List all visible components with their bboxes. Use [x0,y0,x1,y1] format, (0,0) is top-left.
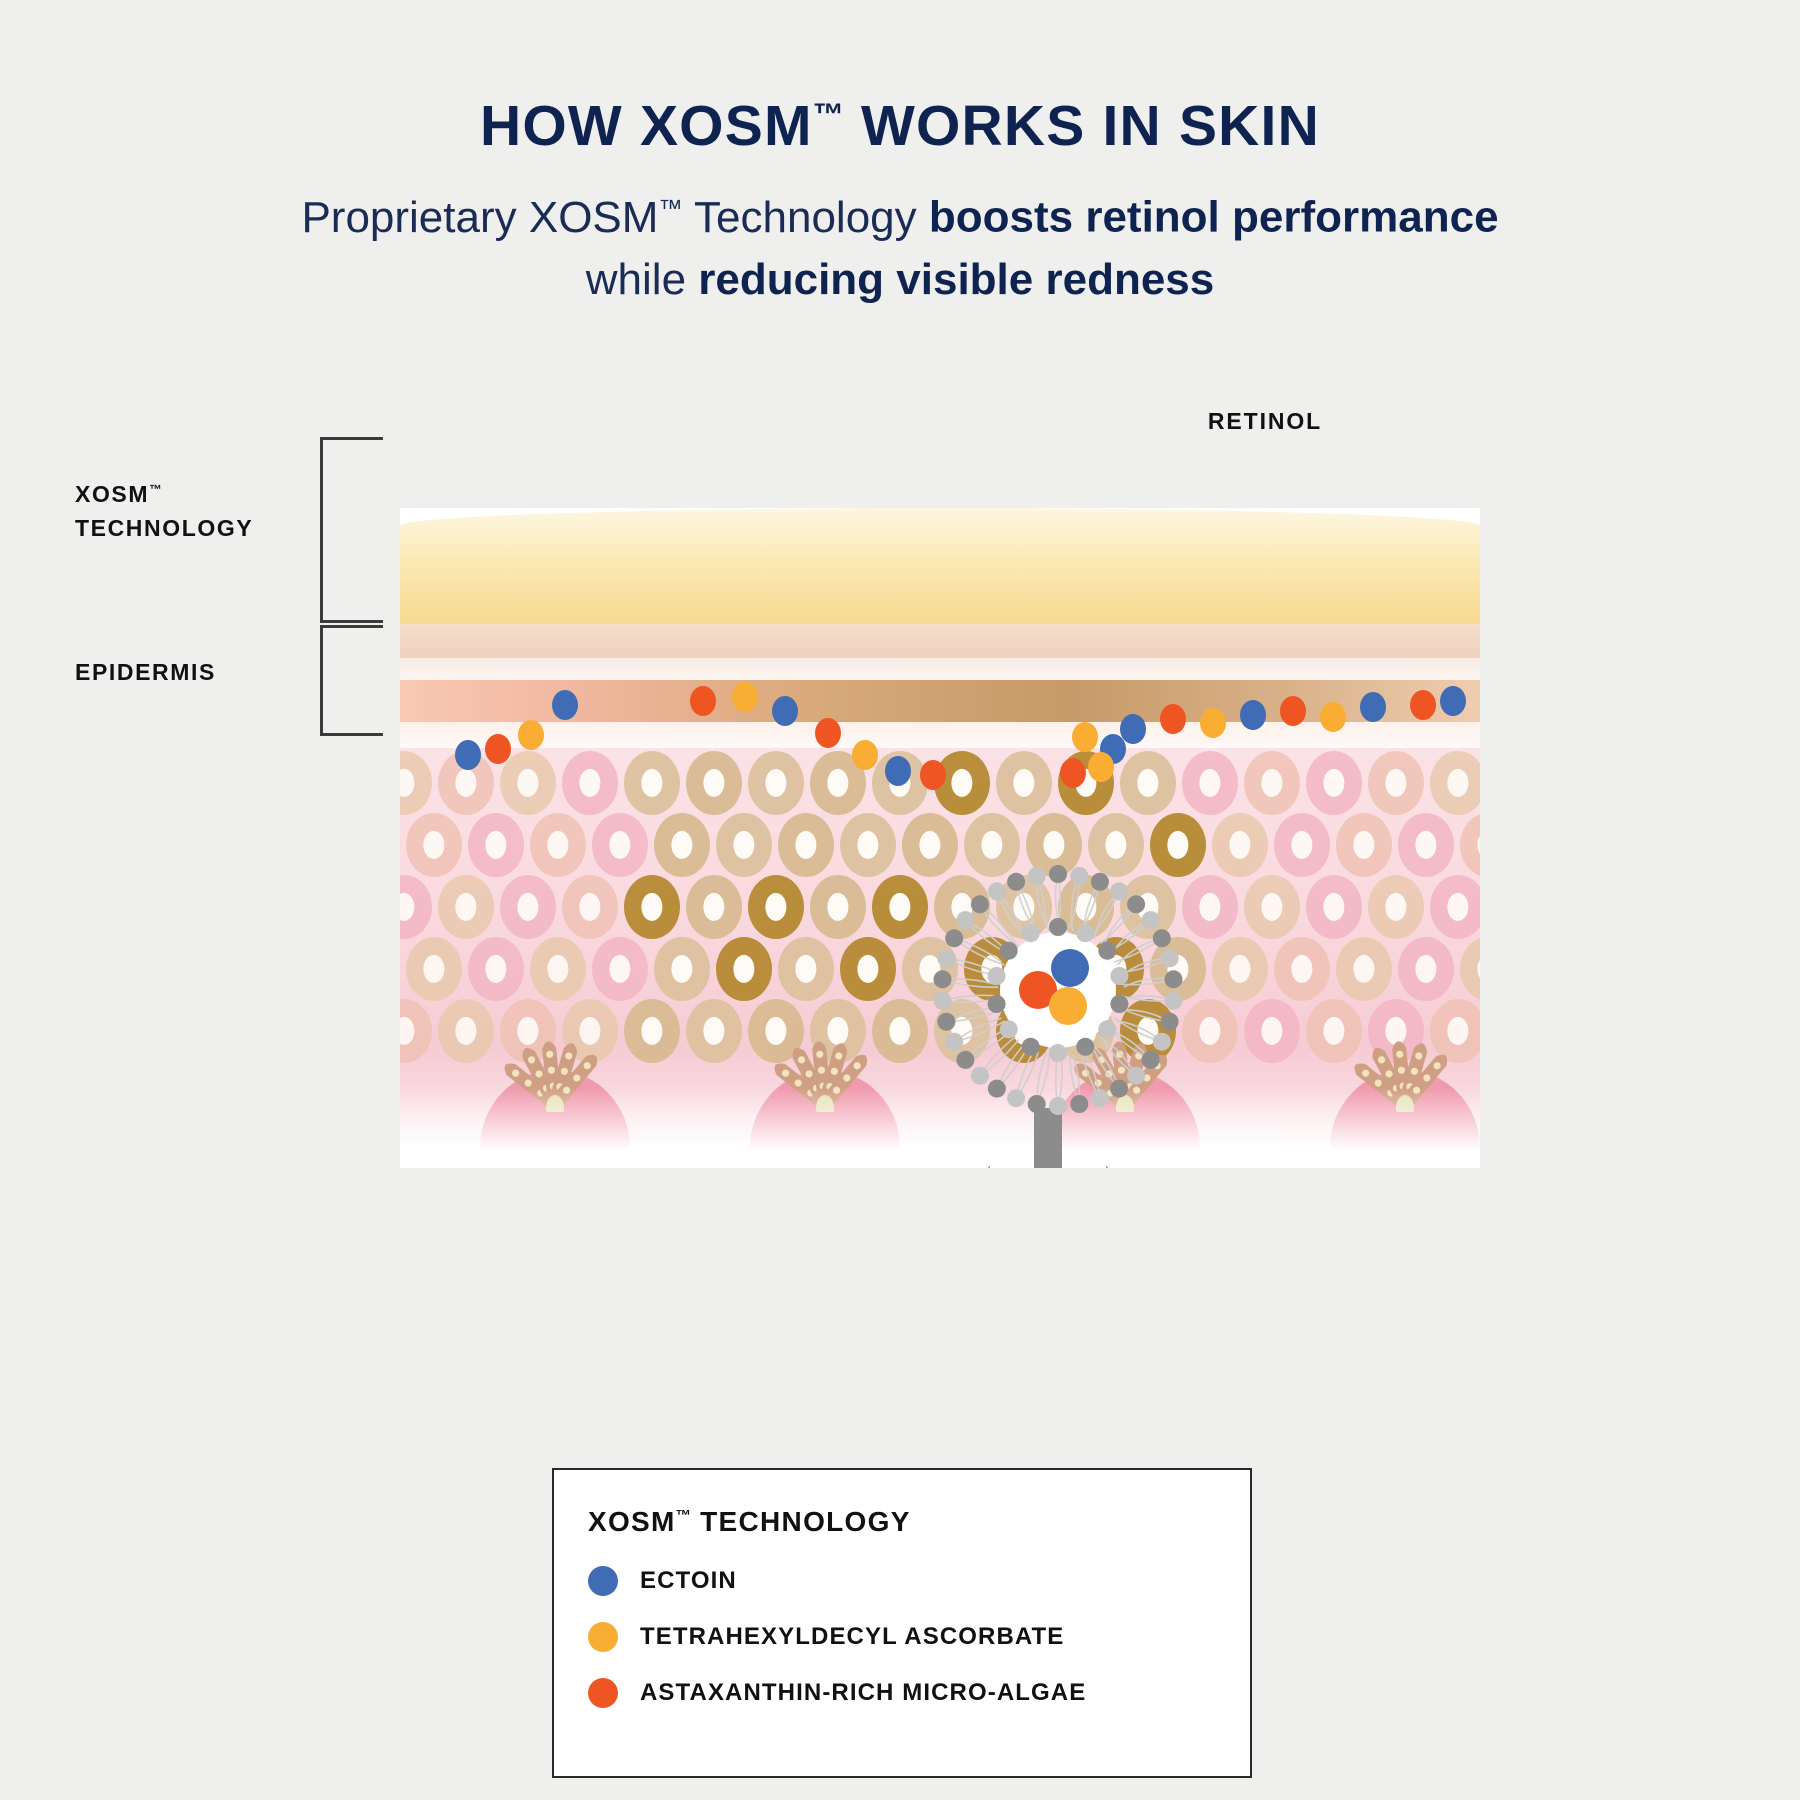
skin-cell [1182,751,1238,815]
lipid-head-outer [1153,929,1171,947]
lipid-head-outer [937,1013,955,1031]
ingredient-dot [1120,714,1146,744]
core-dot-ascorbate [1049,987,1087,1025]
retinol-penetration-arrow-icon [1455,1068,1480,1168]
skin-cell [592,937,648,1001]
lipid-head-outer [1049,865,1067,883]
ingredient-dot [1440,686,1466,716]
skin-cell [406,813,462,877]
ingredient-dot [815,718,841,748]
skin-cell [562,875,618,939]
lipid-head-outer [1007,1089,1025,1107]
legend-swatch-ectoin [588,1566,618,1596]
lipid-head-outer [1142,1051,1160,1069]
lipid-head-inner [1049,918,1067,936]
skin-cell [810,875,866,939]
lipid-head-inner [1098,1020,1116,1038]
label-retinol: RETINOL [1150,408,1380,435]
label-xosm-line1: XOSM™ [75,481,162,507]
skin-cell [500,875,556,939]
skin-cell [406,937,462,1001]
lipid-head-inner [1022,924,1040,942]
lipid-head-outer [1091,873,1109,891]
skin-cell [1306,751,1362,815]
skin-cell [1212,937,1268,1001]
lipid-head-outer [1028,867,1046,885]
skin-layer-gap [400,658,1480,682]
label-xosm-line2: TECHNOLOGY [75,515,253,541]
skin-cell [530,937,586,1001]
legend-label-algae: ASTAXANTHIN-RICH MICRO-ALGAE [640,1679,1086,1707]
skin-cell [686,875,742,939]
lipid-head-outer [1161,1013,1179,1031]
page-title: HOW XOSM™ WORKS IN SKIN [0,93,1800,159]
skin-cell [654,813,710,877]
skin-cell [1336,813,1392,877]
lipid-head-outer [1153,1033,1171,1051]
skin-cell [840,813,896,877]
lipid-head-inner [1022,1038,1040,1056]
legend-item-algae[interactable]: ASTAXANTHIN-RICH MICRO-ALGAE [588,1678,1250,1708]
lipid-head-outer [945,929,963,947]
lipid-head-outer [971,1067,989,1085]
ingredient-dot [1072,722,1098,752]
lipid-head-outer [956,911,974,929]
ingredient-dot [1200,708,1226,738]
lipid-head-outer [1142,911,1160,929]
skin-cell [1212,813,1268,877]
ingredient-dot [552,690,578,720]
skin-cell [716,813,772,877]
lipid-head-outer [934,992,952,1010]
skin-cell [438,875,494,939]
bracket-xosm-icon [320,437,383,623]
lipid-head-outer [1070,1095,1088,1113]
lipid-head-outer [1165,992,1183,1010]
ingredient-dot [690,686,716,716]
skin-cell [562,751,618,815]
legend-swatch-algae [588,1678,618,1708]
skin-cell [468,813,524,877]
skin-cell [468,937,524,1001]
legend-item-ascorbate[interactable]: TETRAHEXYLDECYL ASCORBATE [588,1622,1250,1652]
legend-item-ectoin[interactable]: ECTOIN [588,1566,1250,1596]
legend-title: XOSM™ TECHNOLOGY [588,1506,1250,1538]
skin-cell [1398,813,1454,877]
skin-cell [1430,875,1480,939]
subtitle-part-2: while [586,255,699,304]
skin-cell [500,751,556,815]
lipid-head-inner [988,967,1006,985]
lipid-head-outer [988,1080,1006,1098]
subtitle-bold-1: boosts retinol performance [929,193,1499,242]
skin-cell [530,813,586,877]
lipid-head-outer [1127,895,1145,913]
lipid-head-inner [1076,1038,1094,1056]
lipid-head-outer [937,949,955,967]
ingredient-dot [1410,690,1436,720]
skin-cell [592,813,648,877]
skin-cell [840,937,896,1001]
lipid-head-inner [1110,967,1128,985]
ingredient-dot [1280,696,1306,726]
skin-cell [624,875,680,939]
ingredient-dot [1060,758,1086,788]
skin-cell [778,937,834,1001]
lipid-head-inner [1000,942,1018,960]
skin-cell [1430,751,1480,815]
skin-cell [1460,937,1480,1001]
skin-cell [872,875,928,939]
lipid-head-inner [1049,1044,1067,1062]
skin-cell [400,875,432,939]
ingredient-dot [1160,704,1186,734]
skin-cell [1274,813,1330,877]
skin-cell [1368,875,1424,939]
lipid-head-inner [1098,942,1116,960]
skin-cell [1244,751,1300,815]
skin-cell [654,937,710,1001]
lipid-head-outer [1161,949,1179,967]
skin-cell [748,875,804,939]
skin-cell [400,751,432,815]
ingredient-dot [732,682,758,712]
lipid-head-outer [1070,867,1088,885]
ingredient-dot [485,734,511,764]
skin-cell [1368,751,1424,815]
lipid-head-outer [1110,882,1128,900]
ingredient-dot [455,740,481,770]
ingredient-dot [1240,700,1266,730]
skin-layer-surface [400,508,1480,626]
skin-cell [624,751,680,815]
page-subtitle: Proprietary XOSM™ Technology boosts reti… [300,178,1500,311]
ingredient-dot [1360,692,1386,722]
lipid-head-outer [1165,970,1183,988]
lipid-head-outer [1110,1080,1128,1098]
legend-label-ectoin: ECTOIN [640,1567,737,1595]
lipid-head-outer [1091,1089,1109,1107]
skin-cell [1460,813,1480,877]
ingredient-dot [920,760,946,790]
lipid-head-outer [1007,873,1025,891]
lipid-head-inner [1110,995,1128,1013]
subtitle-bold-2: reducing visible redness [698,255,1214,304]
skin-cell [748,751,804,815]
legend-swatch-ascorbate [588,1622,618,1652]
skin-layer-stratum-corneum [400,624,1480,660]
skin-cross-section-diagram [400,508,1480,1168]
ingredient-dot [885,756,911,786]
infographic-canvas: HOW XOSM™ WORKS IN SKIN Proprietary XOSM… [0,0,1800,1800]
skin-cell [1336,937,1392,1001]
lipid-head-outer [988,882,1006,900]
skin-cell [1182,875,1238,939]
lipid-head-outer [1127,1067,1145,1085]
lipid-head-inner [1076,924,1094,942]
lipid-head-outer [1028,1095,1046,1113]
liposome-svg [928,860,1188,1120]
skin-cell [716,937,772,1001]
xosm-liposome-icon [928,860,1188,1120]
core-dot-ectoin [1051,949,1089,987]
ingredient-dot [1088,752,1114,782]
lipid-head-outer [934,970,952,988]
lipid-head-outer [1049,1097,1067,1115]
subtitle-part-1: Proprietary XOSM™ Technology [301,193,928,242]
lipid-head-inner [988,995,1006,1013]
ingredient-dot [772,696,798,726]
skin-cell [778,813,834,877]
skin-cell [1244,875,1300,939]
lipid-head-outer [956,1051,974,1069]
ingredient-dot [518,720,544,750]
lipid-head-outer [945,1033,963,1051]
legend-box: XOSM™ TECHNOLOGY ECTOIN TETRAHEXYLDECYL … [552,1468,1252,1778]
lipid-head-outer [971,895,989,913]
skin-cell [1274,937,1330,1001]
bracket-epidermis-icon [320,625,383,736]
skin-cell [1398,937,1454,1001]
ingredient-dot [852,740,878,770]
skin-cell [686,751,742,815]
label-xosm-technology: XOSM™ TECHNOLOGY [75,472,253,545]
label-epidermis: EPIDERMIS [75,655,216,689]
skin-cell [1306,875,1362,939]
lipid-head-inner [1000,1020,1018,1038]
legend-label-ascorbate: TETRAHEXYLDECYL ASCORBATE [640,1623,1064,1651]
skin-cell [996,751,1052,815]
skin-cell [1120,751,1176,815]
ingredient-dot [1320,702,1346,732]
